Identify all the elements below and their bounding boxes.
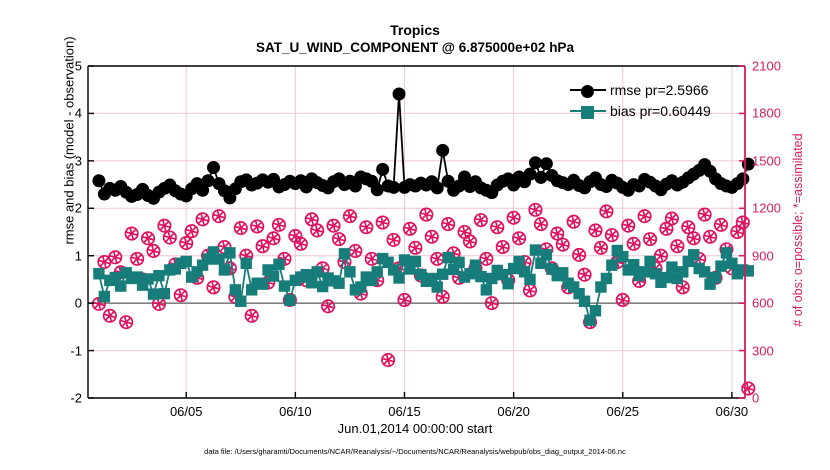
legend-circle-marker-icon [581,85,594,98]
bias-marker [230,285,240,295]
obs-asterisk-icon [335,235,343,243]
left-axis-ticklabel: 0 [75,296,88,311]
legend-item[interactable]: rmse pr=2.5966 [570,79,711,100]
bias-marker [661,272,671,282]
rmse-marker [208,161,220,173]
rmse-marker [540,158,552,170]
obs-asterisk-icon [378,218,386,226]
bias-marker [94,269,104,279]
left-axis-ticklabels: -2-1012345 [0,0,88,470]
left-axis-ticklabel: -1 [70,343,88,358]
rmse-marker [388,181,400,193]
bias-marker [590,306,600,316]
x-axis-ticklabel: 06/25 [606,404,639,419]
obs-asterisk-icon [428,233,436,241]
rmse-marker [377,163,389,175]
obs-asterisk-icon [258,242,266,250]
obs-asterisk-icon [515,234,523,242]
bias-marker [437,269,447,279]
bias-marker [285,295,295,305]
bias-marker [470,260,480,270]
obs-asterisk-icon [411,244,419,252]
bias-marker [481,285,491,295]
obs-marker [513,232,525,244]
obs-marker [589,224,601,236]
obs-asterisk-icon [209,283,217,291]
right-axis-ticklabel: 900 [745,248,774,263]
bias-marker [356,282,366,292]
plot-svg [0,0,830,470]
right-axis-ticklabels: 03006009001200150018002100 [745,0,830,470]
right-axis-ticklabel: 2100 [745,59,781,74]
obs-asterisk-icon [498,243,506,251]
obs-asterisk-icon [597,244,605,252]
obs-marker [491,221,503,233]
obs-asterisk-icon [237,224,245,232]
obs-asterisk-icon [668,214,676,222]
bias-marker [443,252,453,262]
obs-asterisk-icon [384,356,392,364]
obs-marker [235,222,247,234]
obs-marker [120,316,132,328]
obs-asterisk-icon [537,220,545,228]
right-axis-ticklabel: 1800 [745,106,781,121]
bias-marker [678,267,688,277]
bias-marker [274,259,284,269]
obs-marker [267,232,279,244]
bias-marker [236,296,246,306]
obs-marker [622,219,634,231]
right-axis-ticklabel: 600 [745,296,774,311]
right-axis-ticklabel: 1200 [745,201,781,216]
obs-marker [557,238,569,250]
rmse-marker [535,171,547,183]
bias-marker [454,257,464,267]
left-axis-ticklabel: 5 [75,59,88,74]
obs-marker [158,219,170,231]
obs-asterisk-icon [662,225,670,233]
obs-asterisk-icon [580,270,588,278]
obs-marker [704,231,716,243]
bias-marker [214,254,224,264]
obs-asterisk-icon [106,312,114,320]
obs-marker [606,229,618,241]
bias-marker [699,267,709,277]
obs-asterisk-icon [477,216,485,224]
obs-marker [311,224,323,236]
obs-marker [688,232,700,244]
bias-marker [530,245,540,255]
bias-marker [432,282,442,292]
obs-asterisk-icon [591,226,599,234]
obs-asterisk-icon [307,215,315,223]
bias-marker [307,278,317,288]
bias-marker [99,291,109,301]
bias-marker [241,258,251,268]
obs-asterisk-icon [215,212,223,220]
obs-asterisk-icon [177,291,185,299]
obs-asterisk-icon [351,247,359,255]
bias-marker [503,278,513,288]
obs-marker [322,300,334,312]
bias-marker [394,273,404,283]
bias-marker [628,260,638,270]
right-axis-ticklabel: 1500 [745,153,781,168]
rmse-marker [93,175,105,187]
obs-asterisk-icon [406,225,414,233]
legend-sample [570,104,606,118]
obs-asterisk-icon [127,229,135,237]
left-axis-ticklabel: 3 [75,153,88,168]
obs-marker [164,231,176,243]
bias-marker [159,288,169,298]
obs-asterisk-icon [149,247,157,255]
obs-marker [442,218,454,230]
bias-marker [601,273,611,283]
legend-label: rmse pr=2.5966 [610,82,708,98]
chart-legend[interactable]: rmse pr=2.5966bias pr=0.60449 [570,79,711,121]
obs-asterisk-icon [700,210,708,218]
obs-marker [638,210,650,222]
obs-asterisk-icon [160,221,168,229]
obs-marker [196,213,208,225]
legend-sample [570,83,606,97]
obs-marker [409,242,421,254]
obs-asterisk-icon [706,233,714,241]
left-axis-ticklabel: 1 [75,248,88,263]
bias-marker [312,267,322,277]
bias-marker [116,281,126,291]
bias-marker [334,278,344,288]
obs-marker [251,220,263,232]
obs-marker [125,227,137,239]
obs-asterisk-icon [313,226,321,234]
obs-marker [246,310,258,322]
obs-asterisk-icon [640,212,648,220]
left-axis-ticklabel: 4 [75,106,88,121]
x-axis-ticklabel: 06/05 [170,404,203,419]
bias-marker [645,256,655,266]
obs-marker [731,226,743,238]
obs-marker [142,232,154,244]
obs-asterisk-icon [275,221,283,229]
obs-marker [382,354,394,366]
obs-marker [175,289,187,301]
rmse-marker [437,144,449,156]
obs-count-markers [93,204,755,395]
obs-asterisk-icon [187,227,195,235]
bias-marker [268,271,278,281]
datafile-footnote: data file: /Users/gharamti/Documents/NCA… [0,447,830,456]
obs-marker [573,249,585,261]
obs-asterisk-icon [329,221,337,229]
bias-marker [219,265,229,275]
bias-marker [618,251,628,261]
obs-marker [464,235,476,247]
obs-asterisk-icon [526,286,534,294]
obs-asterisk-icon [684,223,692,231]
obs-asterisk-icon [346,212,354,220]
obs-asterisk-icon [717,221,725,229]
obs-marker [595,242,607,254]
bias-marker [667,262,677,272]
obs-asterisk-icon [389,236,397,244]
bias-marker [716,261,726,271]
obs-asterisk-icon [100,258,108,266]
x-axis-ticklabel: 06/10 [279,404,312,419]
obs-marker [273,219,285,231]
left-axis-ticklabel: 2 [75,201,88,216]
obs-asterisk-icon [689,234,697,242]
obs-marker [420,208,432,220]
figure-canvas: Tropics SAT_U_WIND_COMPONENT @ 6.875000e… [0,0,830,470]
bias-marker [339,249,349,259]
bias-marker [143,274,153,284]
obs-marker [524,284,536,296]
obs-asterisk-icon [198,215,206,223]
bias-series [94,245,754,326]
bias-marker [541,250,551,260]
obs-marker [327,219,339,231]
obs-asterisk-icon [673,242,681,250]
obs-marker [207,281,219,293]
obs-asterisk-icon [575,251,583,259]
obs-asterisk-icon [531,206,539,214]
x-axis-ticklabel: 06/20 [497,404,530,419]
bias-marker [225,248,235,258]
obs-marker [333,233,345,245]
obs-marker [109,251,121,263]
obs-asterisk-icon [679,283,687,291]
obs-marker [213,210,225,222]
bias-marker [410,256,420,266]
bias-marker [710,272,720,282]
x-axis-label: Jun.01,2014 00:00:00 start [0,421,830,436]
obs-marker [404,223,416,235]
obs-marker [644,233,656,245]
obs-marker [578,268,590,280]
bias-marker [639,267,649,277]
obs-asterisk-icon [608,231,616,239]
bias-marker [345,267,355,277]
obs-marker [475,214,487,226]
bias-marker [689,250,699,260]
bias-marker [181,256,191,266]
obs-marker [600,205,612,217]
bias-marker [372,267,382,277]
obs-asterisk-icon [438,293,446,301]
bias-marker [154,270,164,280]
obs-asterisk-icon [646,235,654,243]
bias-marker [558,268,568,278]
x-axis-ticklabel: 06/30 [716,404,749,419]
obs-marker [698,208,710,220]
obs-marker [131,253,143,265]
bias-marker [476,271,486,281]
obs-asterisk-icon [569,217,577,225]
obs-marker [535,218,547,230]
obs-asterisk-icon [493,223,501,231]
obs-marker [360,221,372,233]
obs-asterisk-icon [269,234,277,242]
obs-marker [497,241,509,253]
obs-marker [715,219,727,231]
obs-asterisk-icon [624,221,632,229]
obs-asterisk-icon [144,234,152,242]
obs-asterisk-icon [122,318,130,326]
legend-label: bias pr=0.60449 [610,103,711,119]
obs-marker [567,216,579,228]
obs-marker [671,240,683,252]
rmse-marker [529,157,541,169]
obs-asterisk-icon [247,312,255,320]
obs-marker [666,212,678,224]
obs-marker [627,238,639,250]
obs-marker [426,231,438,243]
legend-item[interactable]: bias pr=0.60449 [570,100,711,121]
rmse-marker [524,168,536,180]
obs-asterisk-icon [422,210,430,218]
obs-marker [480,253,492,265]
bias-marker [727,258,737,268]
obs-marker [104,310,116,322]
bias-marker [721,248,731,258]
bias-marker [279,281,289,291]
rmse-marker [202,175,214,187]
obs-asterisk-icon [629,240,637,248]
obs-marker [376,216,388,228]
obs-asterisk-icon [362,223,370,231]
bias-marker [525,274,535,284]
bias-marker [148,289,158,299]
bias-marker [257,279,267,289]
obs-asterisk-icon [553,229,561,237]
obs-marker [529,204,541,216]
obs-marker [431,253,443,265]
obs-asterisk-icon [166,233,174,241]
rmse-marker [393,88,405,100]
rmse-marker [371,184,383,196]
obs-asterisk-icon [111,253,119,261]
right-axis-ticklabel: 300 [745,343,774,358]
obs-asterisk-icon [444,220,452,228]
obs-asterisk-icon [558,240,566,248]
legend-square-marker-icon [581,106,594,119]
obs-marker [366,253,378,265]
bias-marker [514,256,524,266]
rmse-marker [431,182,443,194]
obs-marker [256,240,268,252]
bias-marker [607,260,617,270]
obs-marker [185,225,197,237]
obs-marker [344,210,356,222]
obs-marker [387,234,399,246]
x-axis-ticklabel: 06/15 [388,404,421,419]
bias-marker [579,296,589,306]
obs-asterisk-icon [253,222,261,230]
bias-marker [585,315,595,325]
